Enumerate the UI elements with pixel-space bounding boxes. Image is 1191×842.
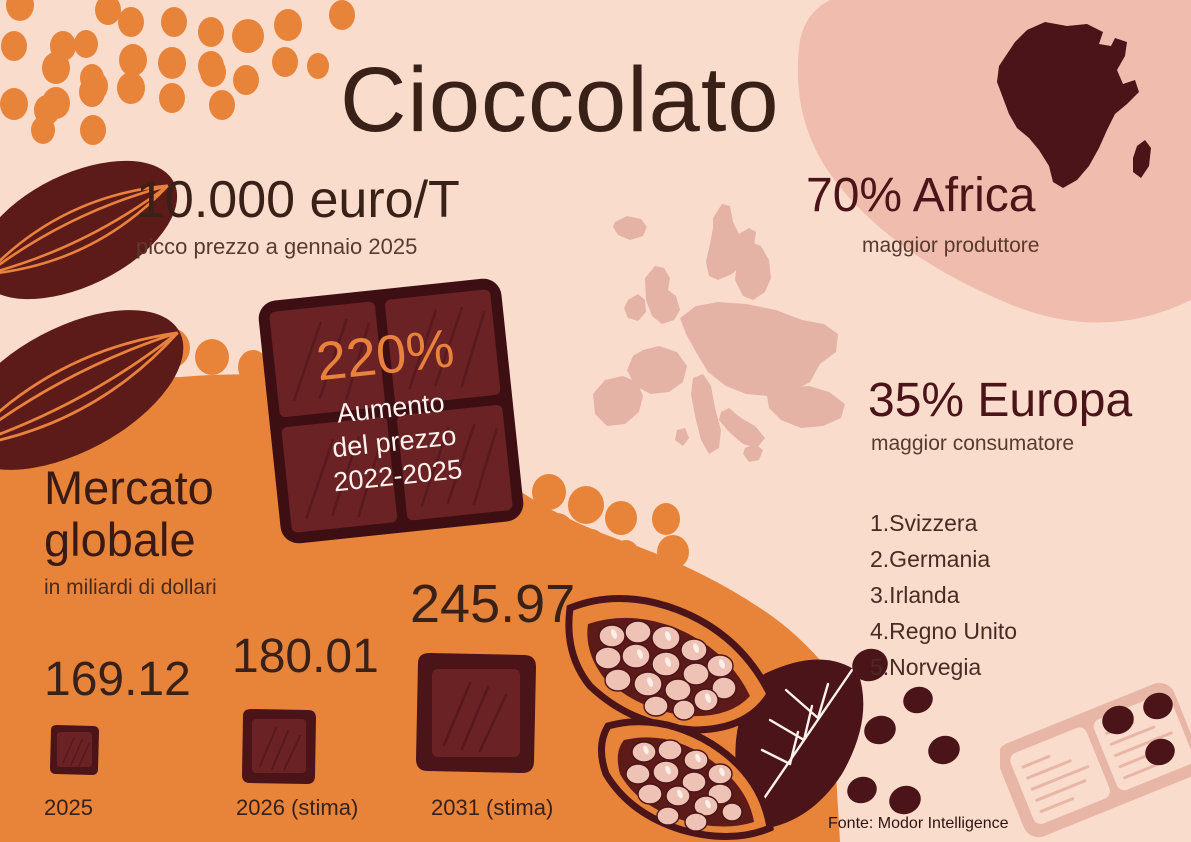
chart-category-2026: 2026 (stima): [236, 795, 358, 821]
list-item: 5.Norvegia: [870, 649, 1017, 685]
list-item: 1.Svizzera: [870, 505, 1017, 541]
page-title: Cioccolato: [340, 48, 780, 153]
source-credit: Fonte: Modor Intelligence: [828, 815, 1009, 833]
infographic-canvas: 220% Aumento del prezzo 2022-2025: [0, 0, 1191, 842]
list-item: 4.Regno Unito: [870, 613, 1017, 649]
price-stat-value: 10.000 euro/T: [136, 170, 460, 230]
chart-value-2026: 180.01: [232, 629, 379, 684]
chart-category-2025: 2025: [44, 795, 93, 821]
producer-stat-caption: maggior produttore: [862, 234, 1039, 258]
chart-subtitle: in miliardi di dollari: [44, 576, 217, 600]
chart-title: Mercato globale: [44, 462, 214, 566]
producer-stat-value: 70% Africa: [806, 168, 1035, 223]
list-item: 3.Irlanda: [870, 577, 1017, 613]
consumer-stat-caption: maggior consumatore: [871, 432, 1074, 456]
chart-category-2031: 2031 (stima): [431, 795, 553, 821]
consumer-stat-value: 35% Europa: [868, 373, 1132, 428]
chart-value-2025: 169.12: [44, 652, 191, 707]
chart-value-2031: 245.97: [410, 573, 575, 635]
price-stat-caption: picco prezzo a gennaio 2025: [136, 234, 417, 260]
list-item: 2.Germania: [870, 541, 1017, 577]
country-ranking-list: 1.Svizzera 2.Germania 3.Irlanda 4.Regno …: [870, 505, 1017, 685]
